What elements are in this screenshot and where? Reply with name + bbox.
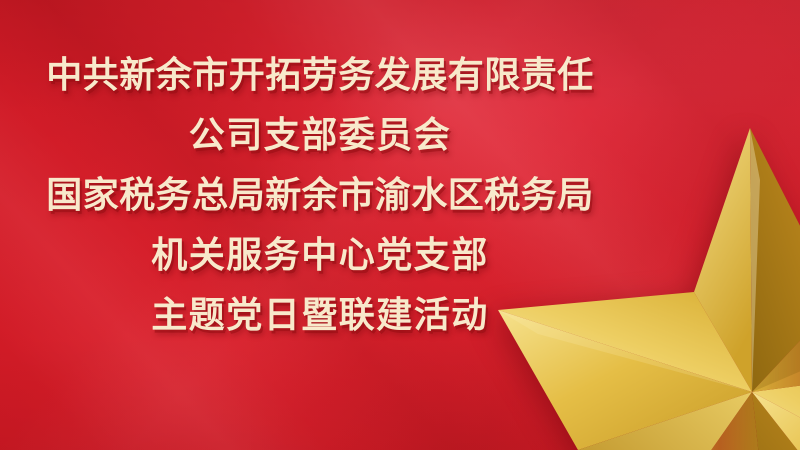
title-line-4: 机关服务中心党支部 <box>0 226 640 286</box>
title-line-1: 中共新余市开拓劳务发展有限责任 <box>0 46 640 106</box>
title-line-5: 主题党日暨联建活动 <box>0 286 640 346</box>
title-line-2: 公司支部委员会 <box>0 106 640 166</box>
banner-canvas: 中共新余市开拓劳务发展有限责任 公司支部委员会 国家税务总局新余市渝水区税务局 … <box>0 0 800 450</box>
banner-title-block: 中共新余市开拓劳务发展有限责任 公司支部委员会 国家税务总局新余市渝水区税务局 … <box>0 46 640 346</box>
title-line-3: 国家税务总局新余市渝水区税务局 <box>0 166 640 226</box>
